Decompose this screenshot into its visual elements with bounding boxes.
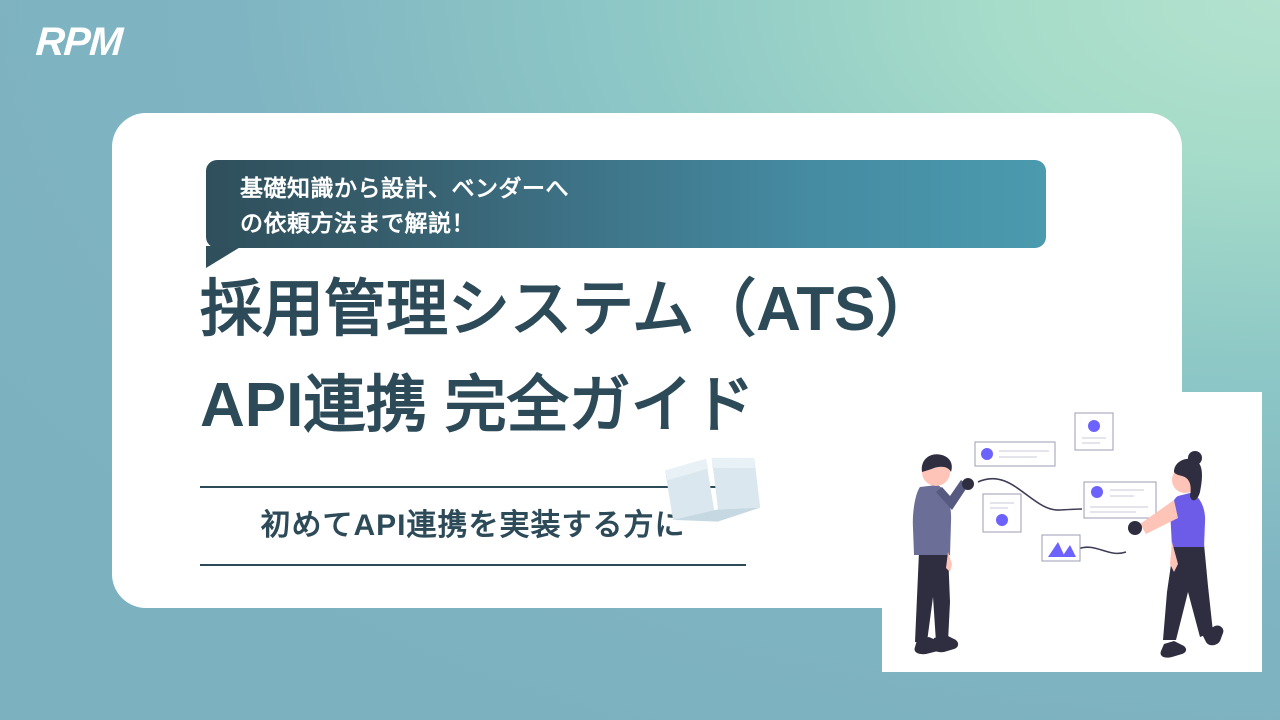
data-card-mid-left xyxy=(983,494,1021,532)
data-card-top-right xyxy=(1075,413,1113,450)
data-card-top-left xyxy=(975,442,1055,466)
subtitle-text: 初めてAPI連携を実装する方に xyxy=(200,488,746,564)
subtitle-rule-bottom xyxy=(200,564,746,566)
badge-line-1: 基礎知識から設計、ベンダーへ xyxy=(240,171,1046,206)
data-card-mid-right xyxy=(1084,482,1156,518)
subtitle-block: 初めてAPI連携を実装する方に xyxy=(200,486,746,566)
rpm-logo: RPM xyxy=(35,22,124,62)
title-line-1: 採用管理システム（ATS） xyxy=(200,262,1080,358)
illustration-panel xyxy=(882,392,1262,672)
badge-ribbon: 基礎知識から設計、ベンダーへ の依頼方法まで解説！ xyxy=(206,160,1046,248)
image-card-icon xyxy=(1042,535,1080,561)
person-male-figure xyxy=(913,454,974,654)
two-people-connecting-data-cards-illustration xyxy=(882,392,1262,672)
badge-line-2: の依頼方法まで解説！ xyxy=(240,206,1046,241)
